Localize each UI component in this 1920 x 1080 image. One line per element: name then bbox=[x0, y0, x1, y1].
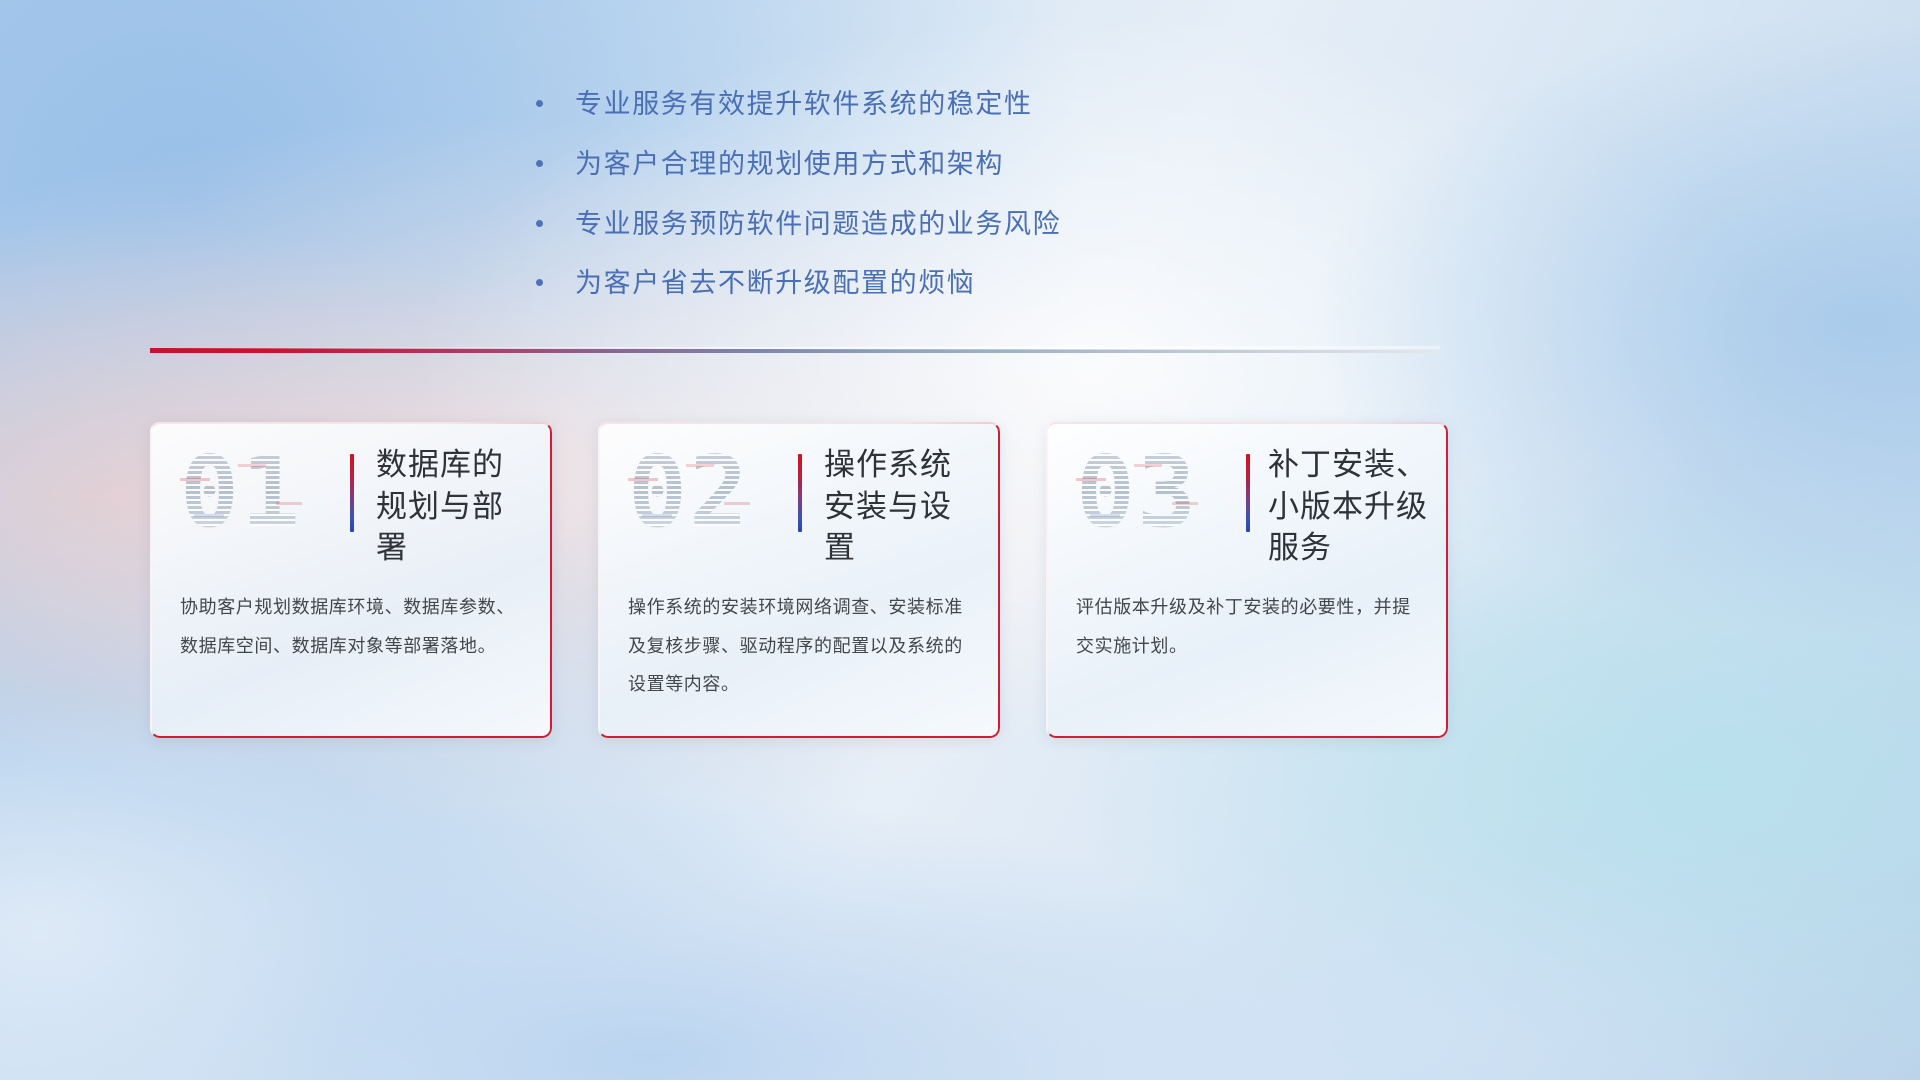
bullet-dot-icon bbox=[536, 100, 543, 107]
card-number-watermark: 01 bbox=[180, 444, 302, 542]
card-header: 03 补丁安装、小版本升级服务 bbox=[1046, 422, 1448, 572]
divider-highlight bbox=[150, 346, 1440, 349]
slide-stage: 专业服务有效提升软件系统的稳定性 为客户合理的规划使用方式和架构 专业服务预防软… bbox=[0, 0, 1920, 1080]
card-header: 02 操作系统安装与设置 bbox=[598, 422, 1000, 572]
card-accent-bar bbox=[798, 454, 802, 532]
card-description: 协助客户规划数据库环境、数据库参数、数据库空间、数据库对象等部署落地。 bbox=[180, 588, 528, 665]
bullet-dot-icon bbox=[536, 220, 543, 227]
bullet-item-label: 专业服务预防软件问题造成的业务风险 bbox=[575, 208, 1061, 242]
service-card-list: 01 数据库的规划与部署 协助客户规划数据库环境、数据库参数、数据库空间、数据库… bbox=[150, 422, 1450, 738]
bullet-item-label: 专业服务有效提升软件系统的稳定性 bbox=[575, 88, 1033, 122]
card-description: 评估版本升级及补丁安装的必要性，并提交实施计划。 bbox=[1076, 588, 1424, 665]
service-card[interactable]: 01 数据库的规划与部署 协助客户规划数据库环境、数据库参数、数据库空间、数据库… bbox=[150, 422, 552, 738]
card-number-watermark: 02 bbox=[628, 444, 750, 542]
card-header: 01 数据库的规划与部署 bbox=[150, 422, 552, 572]
section-divider bbox=[150, 346, 1440, 357]
service-card[interactable]: 03 补丁安装、小版本升级服务 评估版本升级及补丁安装的必要性，并提交实施计划。 bbox=[1046, 422, 1448, 738]
bullet-dot-icon bbox=[536, 160, 543, 167]
card-description: 操作系统的安装环境网络调查、安装标准及复核步骤、驱动程序的配置以及系统的设置等内… bbox=[628, 588, 976, 704]
bullet-item: 专业服务预防软件问题造成的业务风险 bbox=[536, 208, 1296, 242]
card-title: 操作系统安装与设置 bbox=[824, 444, 982, 569]
bullet-item: 为客户省去不断升级配置的烦恼 bbox=[536, 267, 1296, 301]
benefits-bullet-list: 专业服务有效提升软件系统的稳定性 为客户合理的规划使用方式和架构 专业服务预防软… bbox=[536, 88, 1296, 327]
card-title: 数据库的规划与部署 bbox=[376, 444, 534, 569]
bullet-item-label: 为客户合理的规划使用方式和架构 bbox=[575, 148, 1004, 182]
bullet-item: 为客户合理的规划使用方式和架构 bbox=[536, 148, 1296, 182]
card-accent-bar bbox=[1246, 454, 1250, 532]
card-number-watermark: 03 bbox=[1076, 444, 1198, 542]
bullet-item-label: 为客户省去不断升级配置的烦恼 bbox=[575, 267, 975, 301]
bullet-dot-icon bbox=[536, 279, 543, 286]
card-title: 补丁安装、小版本升级服务 bbox=[1268, 444, 1430, 569]
service-card[interactable]: 02 操作系统安装与设置 操作系统的安装环境网络调查、安装标准及复核步骤、驱动程… bbox=[598, 422, 1000, 738]
bullet-item: 专业服务有效提升软件系统的稳定性 bbox=[536, 88, 1296, 122]
card-accent-bar bbox=[350, 454, 354, 532]
